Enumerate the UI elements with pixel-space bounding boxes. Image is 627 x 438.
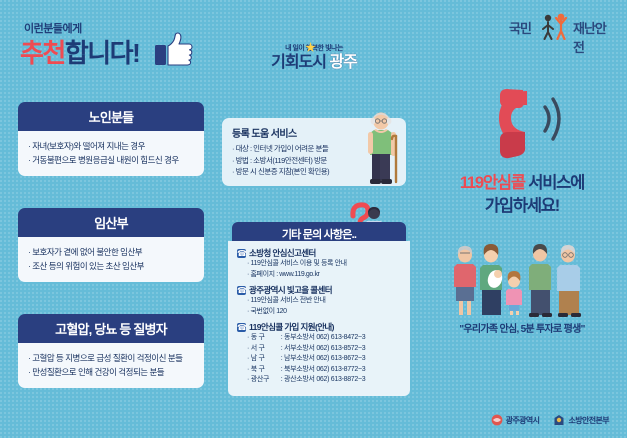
- station-district: 남 구: [251, 354, 281, 365]
- card-bullet: 자녀(보호자)와 떨어져 지내는 경우: [28, 139, 195, 153]
- inquiry-bullet: 119안심콜 서비스 전반 안내: [247, 296, 402, 307]
- footer-logo-label: 광주광역시: [506, 415, 540, 426]
- card-title: 고혈압, 당뇨 등 질병자: [18, 314, 204, 343]
- header-title-red: 추천: [20, 38, 65, 68]
- headline-cta: 가입하세요!: [485, 197, 559, 215]
- tagline: "우리가족 안심, 5분 투자로 평생": [418, 320, 626, 335]
- poster-root: 이런분들에게 추천합니다! 내 일이 행복한 빛나는 기회도시 광주 국민 재난…: [0, 0, 627, 438]
- footer-logo-fire-hq: 소방안전본부: [553, 414, 609, 426]
- card-bullet: 만성질환으로 인해 건강이 걱정되는 분들: [28, 365, 195, 379]
- footer-logo-gwangju: 광주광역시: [491, 414, 540, 426]
- inquiry-group-title: 광주광역시 빛고을 콜센터: [237, 284, 402, 296]
- inquiry-group-name: 광주광역시 빛고을 콜센터: [249, 284, 332, 296]
- header-title: 추천합니다!: [20, 33, 139, 70]
- card-title: 노인분들: [18, 102, 204, 131]
- footer-logos: 광주광역시 소방안전본부: [491, 414, 609, 426]
- inquiry-group-name: 119안심콜 가입 지원(안내): [249, 321, 334, 333]
- city-logo-name: 광주: [329, 54, 356, 71]
- card-bullet: 조산 등의 위험이 있는 초산 임산부: [28, 259, 195, 273]
- city-logo-opportunity: 기회도시: [271, 54, 326, 71]
- station-office: 광산소방서: [284, 376, 315, 383]
- inquiry-group-gwangju-callcenter: 광주광역시 빛고을 콜센터 119안심콜 서비스 전반 안내 국번없이 120: [237, 284, 402, 317]
- gwangju-city-logo: 내 일이 행복한 빛나는 기회도시 광주: [258, 44, 370, 80]
- phone-icon: [237, 323, 246, 332]
- station-office: 북부소방서: [284, 366, 315, 373]
- card-bullet: 보호자가 곁에 없어 불안한 임산부: [28, 245, 195, 259]
- station-phone: 062) 613-8772~3: [316, 366, 365, 373]
- inquiry-group-title: 119안심콜 가입 지원(안내): [237, 321, 402, 333]
- station-district: 동 구: [251, 333, 281, 344]
- elderly-man-with-cane-icon: [360, 112, 404, 190]
- telephone-handset-ringing-icon: [487, 85, 575, 165]
- footer-logo-label: 소방안전본부: [568, 415, 609, 426]
- inquiry-bullet: 홈페이지 : www.119.go.kr: [247, 270, 402, 281]
- family-group-icon: [448, 243, 600, 319]
- fire-safety-headquarters-emblem-icon: [553, 414, 565, 426]
- fire-station-row: 동 구: 동부소방서 062) 613-8472~3: [247, 333, 402, 344]
- station-district: 서 구: [251, 344, 281, 355]
- safety-korea-logo: 국민 재난안전: [509, 12, 613, 42]
- fire-station-row: 광산구: 광산소방서 062) 613-8872~3: [247, 375, 402, 386]
- inquiry-bullet: 119안심콜 서비스 이용 및 등록 안내: [247, 259, 402, 270]
- station-phone: 062) 613-8672~3: [316, 355, 365, 362]
- station-office: 남부소방서: [284, 355, 315, 362]
- safety-logo-left-text: 국민: [509, 18, 531, 37]
- header-title-navy: 합니다!: [65, 38, 139, 68]
- fire-station-row: 남 구: 남부소방서 062) 613-8672~3: [247, 354, 402, 365]
- phone-icon: [237, 249, 246, 258]
- audience-card-elderly: 노인분들 자녀(보호자)와 떨어져 지내는 경우 거동불편으로 병원응급실 내원…: [18, 102, 204, 176]
- card-bullet: 고혈압 등 지병으로 급성 질환이 걱정이신 분들: [28, 351, 195, 365]
- city-logo-subtext: 내 일이 행복한 빛나는: [258, 44, 370, 53]
- card-bullet: 거동불편으로 병원응급실 내원이 힘드신 경우: [28, 153, 195, 167]
- card-body: 보호자가 곁에 없어 불안한 임산부 조산 등의 위험이 있는 초산 임산부: [18, 237, 204, 282]
- station-office: 서부소방서: [284, 345, 315, 352]
- inquiry-group-signup-support: 119안심콜 가입 지원(안내) 동 구: 동부소방서 062) 613-847…: [237, 321, 402, 386]
- card-body: 고혈압 등 지병으로 급성 질환이 걱정이신 분들 만성질환으로 인해 건강이 …: [18, 343, 204, 388]
- card-body: 자녀(보호자)와 떨어져 지내는 경우 거동불편으로 병원응급실 내원이 힘드신…: [18, 131, 204, 176]
- inquiry-bullet: 국번없이 120: [247, 307, 402, 318]
- station-phone: 062) 613-8472~3: [316, 334, 365, 341]
- gwangju-city-emblem-icon: [491, 414, 503, 426]
- inquiry-group-fire-agency: 소방청 안심신고센터 119안심콜 서비스 이용 및 등록 안내 홈페이지 : …: [237, 247, 402, 280]
- people-figures-icon: [539, 12, 571, 40]
- fire-station-row: 서 구: 서부소방서 062) 613-8572~3: [247, 344, 402, 355]
- right-headline: 119안심콜 서비스에 가입하세요!: [418, 172, 626, 218]
- inquiry-group-name: 소방청 안심신고센터: [249, 247, 316, 259]
- audience-card-pregnant: 임산부 보호자가 곁에 없어 불안한 임산부 조산 등의 위험이 있는 초산 임…: [18, 208, 204, 282]
- phone-icon: [237, 286, 246, 295]
- station-district: 북 구: [251, 365, 281, 376]
- headline-brand: 119안심콜: [460, 174, 525, 192]
- station-phone: 062) 613-8872~3: [316, 376, 365, 383]
- thumbs-up-icon: [155, 32, 193, 66]
- card-title: 임산부: [18, 208, 204, 237]
- audience-card-chronic-illness: 고혈압, 당뇨 등 질병자 고혈압 등 지병으로 급성 질환이 걱정이신 분들 …: [18, 314, 204, 388]
- inquiry-group-title: 소방청 안심신고센터: [237, 247, 402, 259]
- headline-rest: 서비스에: [525, 174, 584, 192]
- station-phone: 062) 613-8572~3: [316, 345, 365, 352]
- station-office: 동부소방서: [284, 334, 315, 341]
- city-logo-main: 기회도시 광주: [258, 53, 370, 72]
- inquiry-body: 소방청 안심신고센터 119안심콜 서비스 이용 및 등록 안내 홈페이지 : …: [228, 241, 410, 396]
- station-district: 광산구: [251, 375, 281, 386]
- safety-logo-right-text: 재난안전: [573, 18, 613, 56]
- fire-station-row: 북 구: 북부소방서 062) 613-8772~3: [247, 365, 402, 376]
